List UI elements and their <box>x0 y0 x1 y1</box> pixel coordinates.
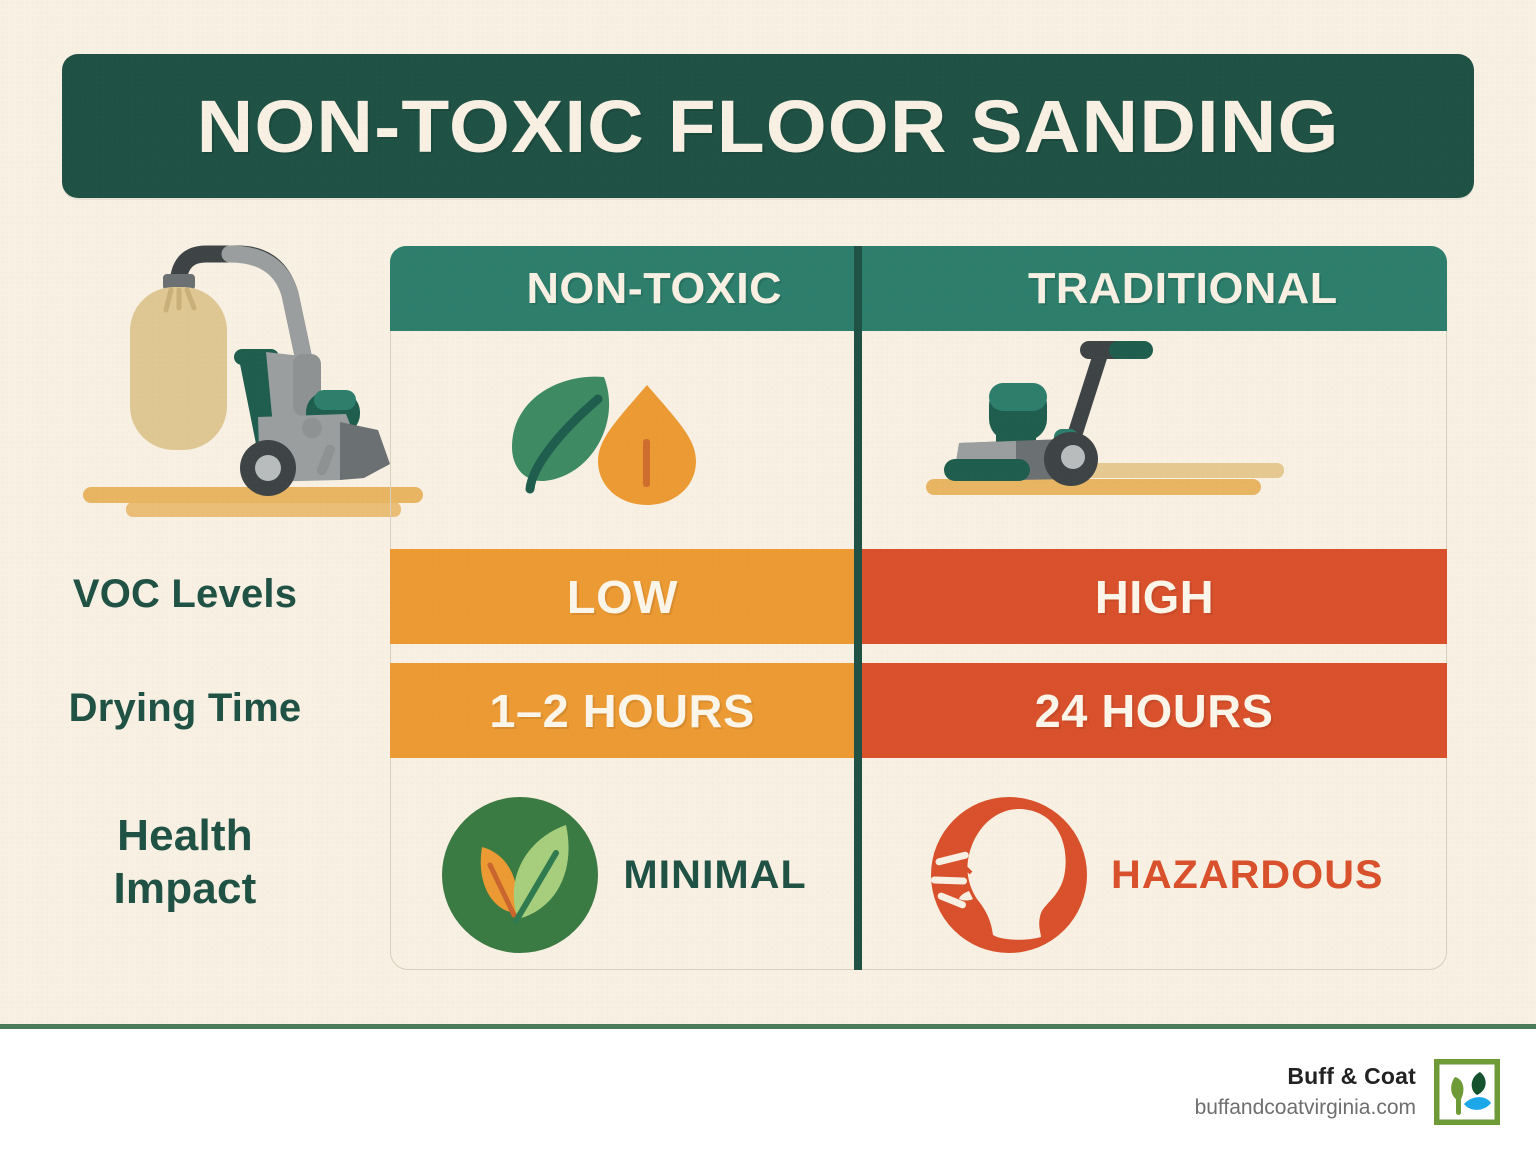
cell-voc-traditional-value: HIGH <box>1095 570 1214 624</box>
row-label-drying-time: Drying Time <box>20 687 350 730</box>
cell-voc-non-toxic: LOW <box>390 549 854 644</box>
cell-health-traditional-value: HAZARDOUS <box>1111 853 1383 898</box>
row-label-health-impact-line1: Health <box>20 810 350 863</box>
footer: Buff & Coat buffandcoatvirginia.com <box>0 1029 1536 1154</box>
droplet-vein <box>643 439 650 487</box>
column-header-traditional: TRADITIONAL <box>919 246 1448 331</box>
column-header-traditional-label: TRADITIONAL <box>1028 264 1338 314</box>
cell-drying-non-toxic-value: 1–2 HOURS <box>489 684 754 738</box>
coughing-person-circle-icon <box>929 795 1089 955</box>
column-header-non-toxic: NON-TOXIC <box>390 246 919 331</box>
footer-brand-name: Buff & Coat <box>1195 1063 1416 1090</box>
cell-health-traditional: HAZARDOUS <box>862 780 1447 970</box>
row-label-health-impact-line2: Impact <box>20 863 350 916</box>
dust-bag-icon <box>130 287 227 450</box>
cell-voc-non-toxic-value: LOW <box>567 570 678 624</box>
non-toxic-illustration-cell <box>390 331 854 546</box>
page-title: NON-TOXIC FLOOR SANDING <box>197 84 1340 169</box>
leaf-square-logo <box>1434 1059 1500 1125</box>
infographic-poster: NON-TOXIC FLOOR SANDING <box>0 0 1536 1154</box>
column-header-non-toxic-label: NON-TOXIC <box>526 264 782 314</box>
cell-drying-traditional: 24 HOURS <box>862 663 1447 758</box>
leaf-stem <box>1456 1097 1461 1115</box>
footer-text-block: Buff & Coat buffandcoatvirginia.com <box>1195 1063 1416 1120</box>
cell-drying-traditional-value: 24 HOURS <box>1035 684 1274 738</box>
title-banner: NON-TOXIC FLOOR SANDING <box>62 54 1474 198</box>
footer-website-url[interactable]: buffandcoatvirginia.com <box>1195 1096 1416 1120</box>
cell-health-non-toxic-value: MINIMAL <box>623 853 806 898</box>
leaf-circle-icon <box>440 795 600 955</box>
row-label-health-impact: Health Impact <box>20 810 350 916</box>
cell-health-non-toxic: MINIMAL <box>390 780 854 970</box>
table-header: NON-TOXIC TRADITIONAL <box>390 246 1447 331</box>
floor-buffer-sander-icon <box>904 331 1304 511</box>
cell-voc-traditional: HIGH <box>862 549 1447 644</box>
illustration-row <box>390 331 1447 546</box>
leaf-and-oil-droplet-icon <box>482 365 712 515</box>
traditional-illustration-cell <box>862 331 1447 546</box>
cell-drying-non-toxic: 1–2 HOURS <box>390 663 854 758</box>
row-label-voc-levels: VOC Levels <box>20 573 350 616</box>
